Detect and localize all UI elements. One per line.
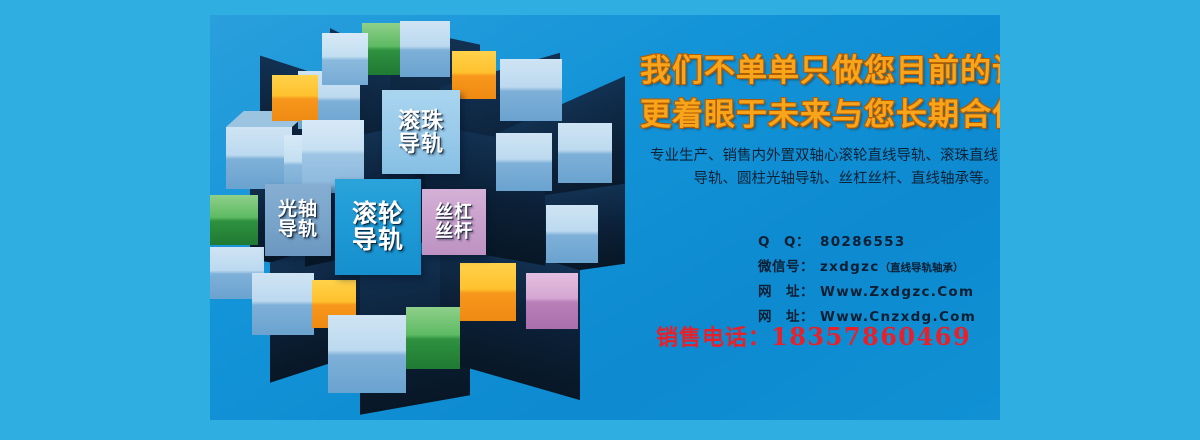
- product-box-line2: 导轨: [278, 220, 318, 240]
- cube-face: [400, 21, 450, 77]
- qq-value: 80286553: [820, 230, 906, 255]
- product-box-guangzhou-daogui[interactable]: 光轴 导轨: [265, 184, 331, 256]
- cube-blue: [226, 127, 292, 189]
- cube-pink: [526, 273, 578, 329]
- wechat-label: 微信号：: [758, 255, 820, 280]
- cube-green: [406, 307, 460, 369]
- sales-phone-label: 销售电话：: [656, 326, 771, 351]
- product-box-line1: 丝杠: [435, 203, 473, 222]
- product-box-gunlun-daogui[interactable]: 滚轮 导轨: [335, 179, 421, 275]
- cube-face: [272, 75, 318, 121]
- cube-green: [210, 195, 258, 245]
- cube-face: [328, 315, 406, 393]
- cube-blue: [546, 205, 598, 263]
- cube-face: [322, 33, 368, 85]
- cube-blue: [252, 273, 314, 335]
- product-box-line2: 丝杆: [435, 222, 473, 241]
- cube-face: [526, 273, 578, 329]
- cube-orange: [460, 263, 516, 321]
- cube-blue: [322, 33, 368, 85]
- cube-orange: [272, 75, 318, 121]
- cube-blue: [496, 133, 552, 191]
- promo-banner: 滚珠 导轨 光轴 导轨 滚轮 导轨 丝杠 丝杆 我们不单单只做您目前的订单 更着…: [0, 0, 1200, 440]
- qq-label: Q Q：: [758, 230, 820, 255]
- exploding-cubes-graphic: 滚珠 导轨 光轴 导轨 滚轮 导轨 丝杠 丝杆: [210, 15, 640, 420]
- product-box-line1: 滚珠: [398, 109, 444, 132]
- cube-face: [226, 127, 292, 189]
- cube-face: [406, 307, 460, 369]
- contact-info-block: Q Q： 80286553 微信号： zxdgzc （直线导轨轴承） 网 址： …: [758, 230, 1000, 330]
- product-box-line2: 导轨: [352, 227, 404, 254]
- cube-blue: [558, 123, 612, 183]
- cube-face: [546, 205, 598, 263]
- sales-phone-block: 销售电话：18357860469: [656, 320, 1000, 352]
- headline-line-1: 我们不单单只做您目前的订单: [640, 45, 1000, 90]
- product-box-line1: 滚轮: [352, 201, 404, 228]
- cube-blue: [302, 120, 364, 186]
- cube-blue: [500, 59, 562, 121]
- cube-face: [302, 120, 364, 186]
- website1-value[interactable]: Www.Zxdgzc.Com: [820, 280, 974, 305]
- contact-row-qq: Q Q： 80286553: [758, 230, 1000, 255]
- cube-blue: [400, 21, 450, 77]
- cube-blue: [328, 315, 406, 393]
- banner-inner-panel: 滚珠 导轨 光轴 导轨 滚轮 导轨 丝杠 丝杆 我们不单单只做您目前的订单 更着…: [210, 15, 1000, 420]
- cube-face: [558, 123, 612, 183]
- product-box-line1: 光轴: [278, 200, 318, 220]
- contact-row-wechat: 微信号： zxdgzc （直线导轨轴承）: [758, 255, 1000, 280]
- contact-row-website-1: 网 址： Www.Zxdgzc.Com: [758, 280, 1000, 305]
- cube-face: [496, 133, 552, 191]
- cube-face: [252, 273, 314, 335]
- cube-face: [500, 59, 562, 121]
- banner-text-column: 我们不单单只做您目前的订单 更着眼于未来与您长期合作 专业生产、销售内外置双轴心…: [640, 15, 1000, 420]
- product-box-sigang-sigan[interactable]: 丝杠 丝杆: [422, 189, 486, 255]
- product-box-line2: 导轨: [398, 132, 444, 155]
- website1-label: 网 址：: [758, 280, 820, 305]
- headline-line-2: 更着眼于未来与您长期合作: [640, 89, 1000, 134]
- cube-face: [460, 263, 516, 321]
- sales-phone-number[interactable]: 18357860469: [771, 322, 971, 351]
- wechat-value: zxdgzc: [820, 255, 880, 280]
- company-description: 专业生产、销售内外置双轴心滚轮直线导轨、滚珠直线导轨、圆柱光轴导轨、丝杠丝杆、直…: [646, 145, 998, 192]
- cube-face: [210, 195, 258, 245]
- product-box-gunzhu-daogui[interactable]: 滚珠 导轨: [382, 90, 460, 174]
- wechat-note: （直线导轨轴承）: [880, 259, 964, 278]
